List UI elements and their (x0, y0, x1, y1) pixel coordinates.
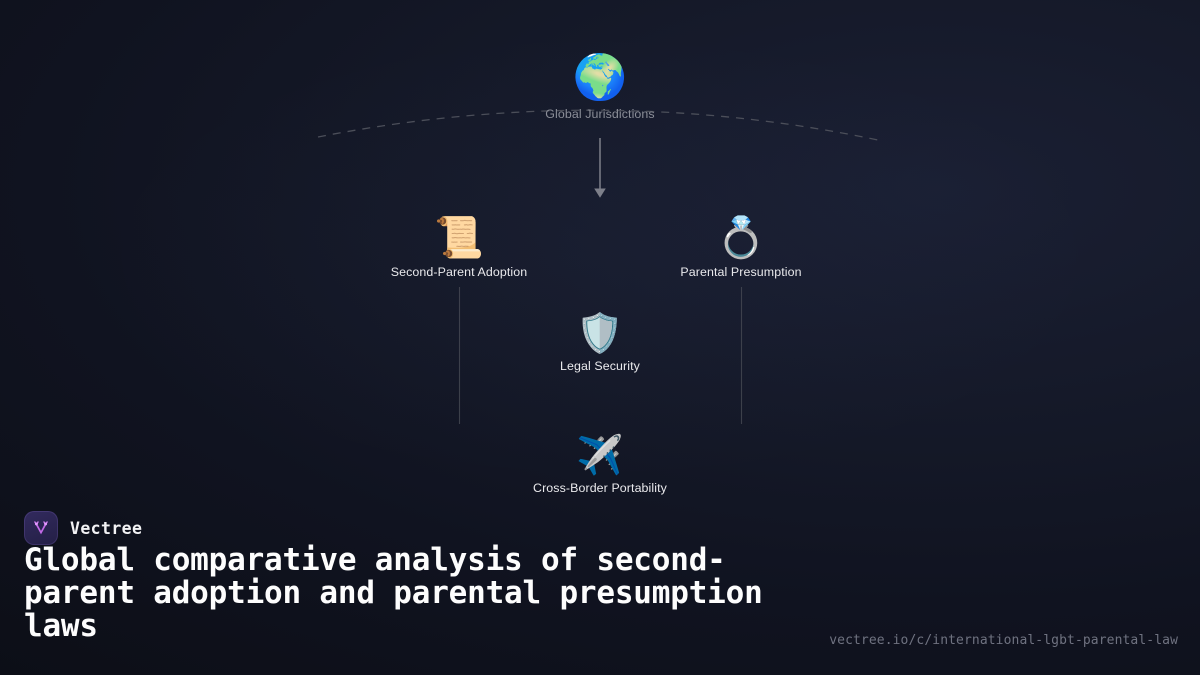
graph-node-parental-presumption[interactable]: 💍 Parental Presumption (611, 218, 871, 279)
airplane-icon: ✈️ (470, 436, 730, 474)
source-url: vectree.io/c/international-lgbt-parental… (829, 633, 1178, 648)
graph-node-label: Global Jurisdictions (470, 107, 730, 121)
footer: Vectree Global comparative analysis of s… (0, 497, 1200, 675)
graph-node-cross-border-portability[interactable]: ✈️ Cross-Border Portability (470, 436, 730, 495)
vectree-logo-icon (24, 511, 58, 545)
brand-lockup[interactable]: Vectree (24, 511, 142, 545)
graph-node-legal-security[interactable]: 🛡️ Legal Security (470, 314, 730, 373)
page-title: Global comparative analysis of second-pa… (24, 544, 824, 643)
ring-icon: 💍 (611, 218, 871, 258)
graph-node-label: Legal Security (470, 359, 730, 373)
graph-node-global-jurisdictions[interactable]: 🌍 Global Jurisdictions (470, 56, 730, 121)
graph-node-label: Cross-Border Portability (470, 481, 730, 495)
graph-node-second-parent-adoption[interactable]: 📜 Second-Parent Adoption (329, 218, 589, 279)
slide-canvas: 🌍 Global Jurisdictions 📜 Second-Parent A… (0, 0, 1200, 675)
graph-node-label: Parental Presumption (611, 265, 871, 279)
brand-name: Vectree (70, 519, 142, 538)
shield-icon: 🛡️ (470, 314, 730, 352)
scroll-icon: 📜 (329, 218, 589, 258)
graph-node-label: Second-Parent Adoption (329, 265, 589, 279)
globe-showing-europe-africa-icon: 🌍 (470, 56, 730, 100)
